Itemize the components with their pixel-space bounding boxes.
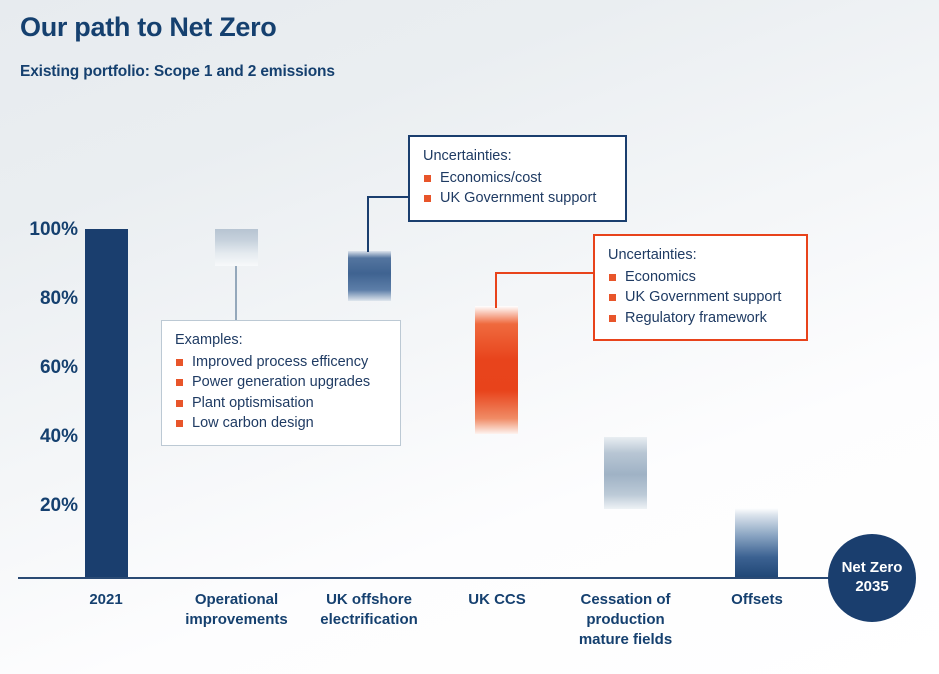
callout-uncertainties-ccs-item: Economics (608, 267, 793, 288)
callout-uncertainties-ccs-list: Economics UK Government support Regulato… (608, 267, 793, 329)
net-zero-year: 2035 (855, 578, 888, 597)
callout-uncertainties-electrification-item: UK Government support (423, 188, 612, 209)
callout-examples-list: Improved process efficency Power generat… (175, 352, 387, 434)
bullet-square-icon (176, 420, 183, 427)
bullet-square-icon (424, 195, 431, 202)
callout-examples-item: Plant optismisation (175, 393, 387, 414)
bar-2021 (85, 229, 128, 578)
callout-uncertainties-ccs-item: Regulatory framework (608, 308, 793, 329)
bar-offsets (735, 508, 778, 578)
slide-canvas: Our path to Net Zero Existing portfolio:… (0, 0, 939, 674)
bullet-square-icon (609, 274, 616, 281)
bullet-square-icon (609, 294, 616, 301)
category-label-operational-improvements: Operational improvements (166, 590, 307, 630)
bullet-square-icon (176, 379, 183, 386)
callout-examples-item: Low carbon design (175, 413, 387, 434)
callout-uncertainties-ccs: Uncertainties: Economics UK Government s… (593, 234, 808, 341)
bar-uk-offshore-electrification (348, 251, 391, 301)
callout-uncertainties-ccs-item: UK Government support (608, 287, 793, 308)
category-label-offsets: Offsets (707, 590, 807, 610)
category-label-uk-ccs: UK CCS (442, 590, 552, 610)
net-zero-badge: Net Zero 2035 (828, 534, 916, 622)
category-label-2021: 2021 (56, 590, 156, 610)
category-label-uk-offshore-electrification: UK offshore electrification (301, 590, 437, 630)
callout-examples-heading: Examples: (175, 330, 387, 351)
connector-electrification-horizontal (367, 196, 410, 198)
connector-examples (235, 266, 237, 321)
callout-uncertainties-electrification-item: Economics/cost (423, 168, 612, 189)
callout-uncertainties-electrification-list: Economics/cost UK Government support (423, 168, 612, 209)
bullet-square-icon (609, 315, 616, 322)
bullet-square-icon (176, 359, 183, 366)
callout-examples: Examples: Improved process efficency Pow… (161, 320, 401, 446)
category-label-cessation-of-production: Cessation of production mature fields (567, 590, 684, 649)
bar-cessation-of-production (604, 437, 647, 509)
x-axis-line (18, 577, 890, 579)
callout-uncertainties-electrification-heading: Uncertainties: (423, 146, 612, 167)
callout-uncertainties-electrification: Uncertainties: Economics/cost UK Governm… (408, 135, 627, 222)
bar-uk-ccs (475, 306, 518, 434)
callout-examples-item: Improved process efficency (175, 352, 387, 373)
callout-examples-item: Power generation upgrades (175, 372, 387, 393)
bullet-square-icon (424, 175, 431, 182)
connector-electrification-vertical (367, 196, 369, 252)
bar-operational-improvements (215, 229, 258, 266)
waterfall-chart: 100% 80% 60% 40% 20% 2021 Operational im… (0, 0, 939, 674)
connector-ccs-vertical (495, 272, 497, 308)
bullet-square-icon (176, 400, 183, 407)
net-zero-label: Net Zero (842, 559, 903, 578)
callout-uncertainties-ccs-heading: Uncertainties: (608, 245, 793, 266)
connector-ccs-horizontal (495, 272, 595, 274)
